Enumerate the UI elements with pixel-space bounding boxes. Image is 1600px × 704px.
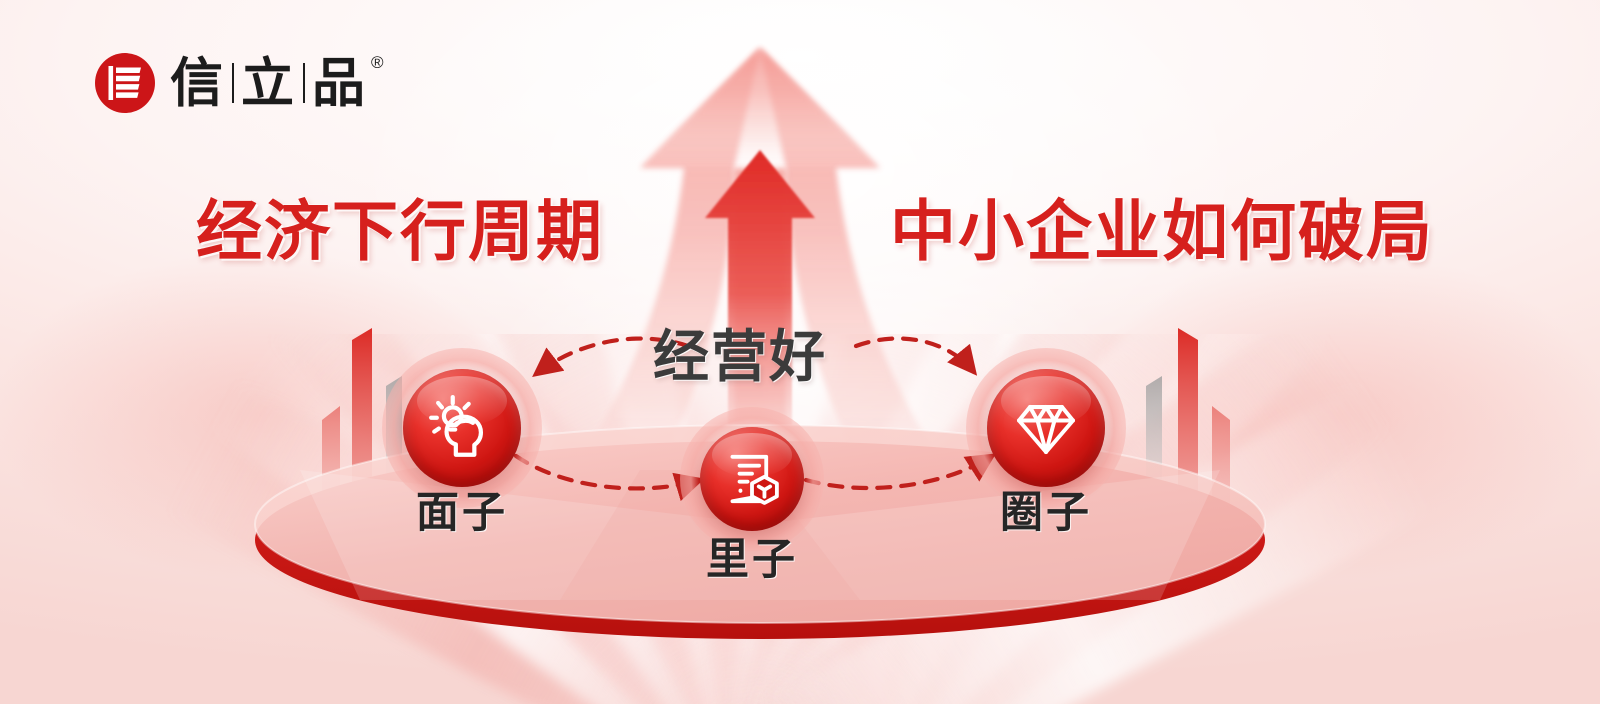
brand-char-1: 信 bbox=[170, 57, 225, 110]
node-label-lizi: 里子 bbox=[706, 525, 798, 587]
node-orb-core bbox=[403, 369, 521, 487]
node-lizi[interactable]: 里子 bbox=[680, 407, 824, 551]
diamond-gem-icon bbox=[1010, 392, 1082, 464]
headline-left: 经济下行周期 bbox=[196, 178, 604, 274]
document-shield-icon bbox=[720, 447, 784, 511]
head-lightbulb-icon bbox=[425, 391, 499, 465]
node-orb-core bbox=[700, 427, 804, 531]
node-orb-core bbox=[987, 369, 1105, 487]
brand-wordmark: 信 立 品 ® bbox=[170, 57, 384, 110]
poster-canvas: 信 立 品 ® 经济下行周期 中小企业如何破局 经营好 bbox=[0, 0, 1600, 704]
node-label-mianzi: 面子 bbox=[416, 478, 508, 540]
brand-divider-2 bbox=[303, 63, 305, 103]
node-mianzi[interactable]: 面子 bbox=[382, 348, 542, 508]
brand-logo[interactable]: 信 立 品 ® bbox=[94, 52, 384, 114]
headline-right: 中小企业如何破局 bbox=[890, 178, 1434, 274]
center-caption: 经营好 bbox=[653, 312, 827, 393]
brand-char-2: 立 bbox=[241, 57, 296, 110]
node-label-quanzi: 圈子 bbox=[1000, 478, 1092, 540]
xinlipin-circle-mark-icon bbox=[94, 52, 156, 114]
brand-char-3: 品 bbox=[312, 57, 367, 110]
brand-divider-1 bbox=[232, 63, 234, 103]
registered-trademark-symbol: ® bbox=[371, 53, 384, 73]
node-quanzi[interactable]: 圈子 bbox=[966, 348, 1126, 508]
